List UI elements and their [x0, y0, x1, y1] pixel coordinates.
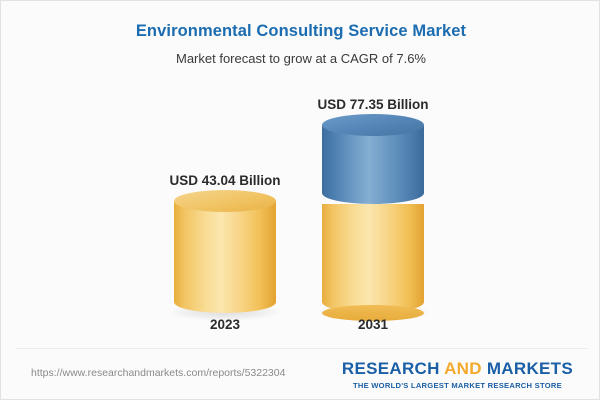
cylinder-top-cap-blue	[322, 114, 424, 136]
cylinder-segment-base-2023	[174, 201, 276, 313]
category-label-2031: 2031	[303, 317, 443, 332]
category-label-2023: 2023	[155, 317, 295, 332]
logo-word-and: AND	[444, 359, 482, 378]
value-label-2023: USD 43.04 Billion	[155, 173, 295, 188]
cylinder-body-blue	[322, 125, 424, 204]
bar-group-2031: USD 77.35 Billion 2031	[303, 1, 443, 349]
value-label-2031: USD 77.35 Billion	[303, 97, 443, 112]
bar-group-2023: USD 43.04 Billion 2023	[155, 1, 295, 349]
chart-canvas: Environmental Consulting Service Market …	[0, 0, 600, 400]
source-url[interactable]: https://www.researchandmarkets.com/repor…	[31, 367, 285, 379]
logo-tagline: THE WORLD'S LARGEST MARKET RESEARCH STOR…	[342, 381, 573, 390]
logo-word-markets: MARKETS	[482, 359, 573, 378]
cylinder-segment-growth-2031	[322, 125, 424, 204]
plot-area: USD 43.04 Billion 2023 USD 77.35 Billion	[1, 1, 600, 349]
cylinder-2023[interactable]	[174, 201, 276, 313]
research-and-markets-logo[interactable]: RESEARCH AND MARKETS THE WORLD'S LARGEST…	[342, 359, 573, 390]
cylinder-body-yellow	[174, 201, 276, 313]
logo-wordmark: RESEARCH AND MARKETS	[342, 359, 573, 379]
cylinder-2031[interactable]	[322, 125, 424, 313]
cylinder-segment-base-2031	[322, 204, 424, 313]
footer-divider	[15, 348, 587, 349]
cylinder-body-yellow	[322, 204, 424, 313]
cylinder-top-cap-yellow	[174, 190, 276, 212]
logo-word-research: RESEARCH	[342, 359, 444, 378]
